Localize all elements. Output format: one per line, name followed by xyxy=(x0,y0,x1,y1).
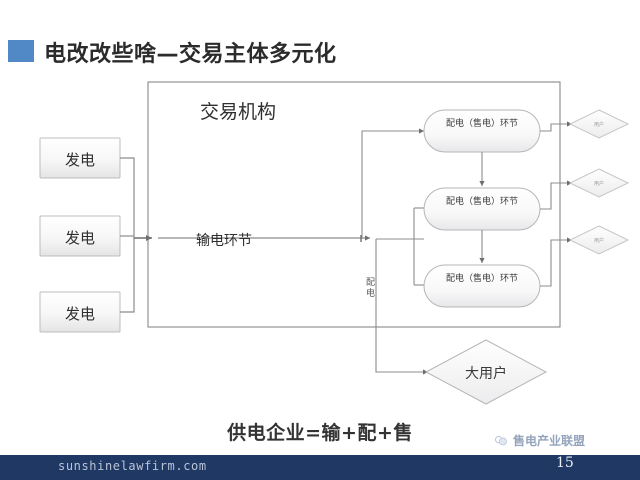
generator-bus-connectors xyxy=(120,158,134,312)
watermark: 售电产业联盟 xyxy=(494,432,585,449)
footer-url: sunshinelawfirm.com xyxy=(58,459,207,473)
generator-box-1[interactable] xyxy=(40,138,120,178)
user-diamond-3[interactable] xyxy=(570,226,628,254)
generator-box-2[interactable] xyxy=(40,216,120,256)
watermark-text: 售电产业联盟 xyxy=(513,432,585,449)
distribution-node-3[interactable] xyxy=(424,265,540,307)
slide-canvas: 电改改些啥—交易主体多元化 xyxy=(0,0,640,480)
trading-institution-label: 交易机构 xyxy=(200,97,276,124)
large-user-diamond[interactable] xyxy=(426,340,546,404)
transmission-link-label: 输电环节 xyxy=(196,230,252,250)
distribution-vertical-label: 配电 xyxy=(366,278,378,300)
generator-box-3[interactable] xyxy=(40,292,120,332)
distribution-node-1[interactable] xyxy=(424,110,540,152)
page-number: 15 xyxy=(556,455,574,471)
user-diamond-1[interactable] xyxy=(570,110,628,138)
cloud-logo-icon xyxy=(494,433,509,448)
distribution-node-2[interactable] xyxy=(424,188,540,230)
power-market-diagram xyxy=(0,0,640,480)
user-diamond-2[interactable] xyxy=(570,169,628,197)
